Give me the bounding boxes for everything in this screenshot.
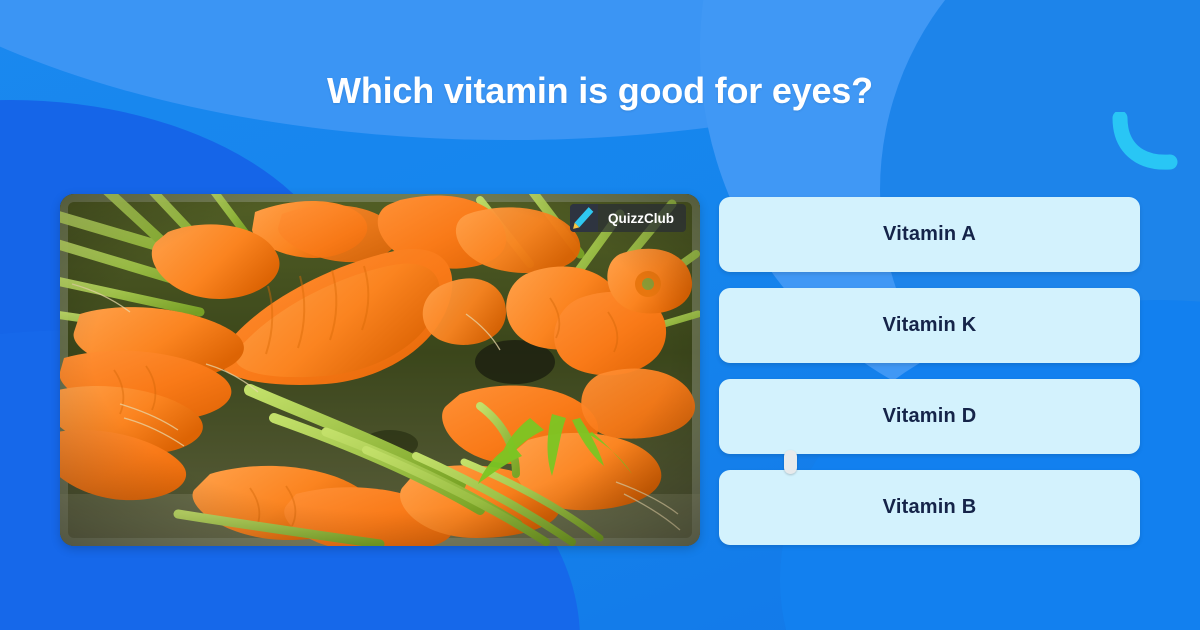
question-title: Which vitamin is good for eyes? <box>0 70 1200 112</box>
quizzclub-watermark: QuizzClub <box>570 204 686 232</box>
question-image-card: QuizzClub <box>60 194 700 546</box>
carrots-photo <box>60 194 700 546</box>
quizzclub-logo-icon <box>570 204 598 232</box>
quizzclub-brand-label: QuizzClub <box>608 211 674 226</box>
cyan-arc-swoosh-icon <box>1112 112 1184 174</box>
answer-options-list: Vitamin A Vitamin K Vitamin D Vitamin B <box>719 197 1140 545</box>
answer-option-label: Vitamin A <box>883 223 976 246</box>
answer-option-vitamin-d[interactable]: Vitamin D <box>719 379 1140 454</box>
answer-option-label: Vitamin B <box>883 496 977 519</box>
answer-option-label: Vitamin K <box>883 314 977 337</box>
answer-option-label: Vitamin D <box>883 405 977 428</box>
answer-option-vitamin-k[interactable]: Vitamin K <box>719 288 1140 363</box>
answer-option-vitamin-b[interactable]: Vitamin B <box>719 470 1140 545</box>
mouse-cursor-indicator <box>784 450 797 474</box>
answer-option-vitamin-a[interactable]: Vitamin A <box>719 197 1140 272</box>
